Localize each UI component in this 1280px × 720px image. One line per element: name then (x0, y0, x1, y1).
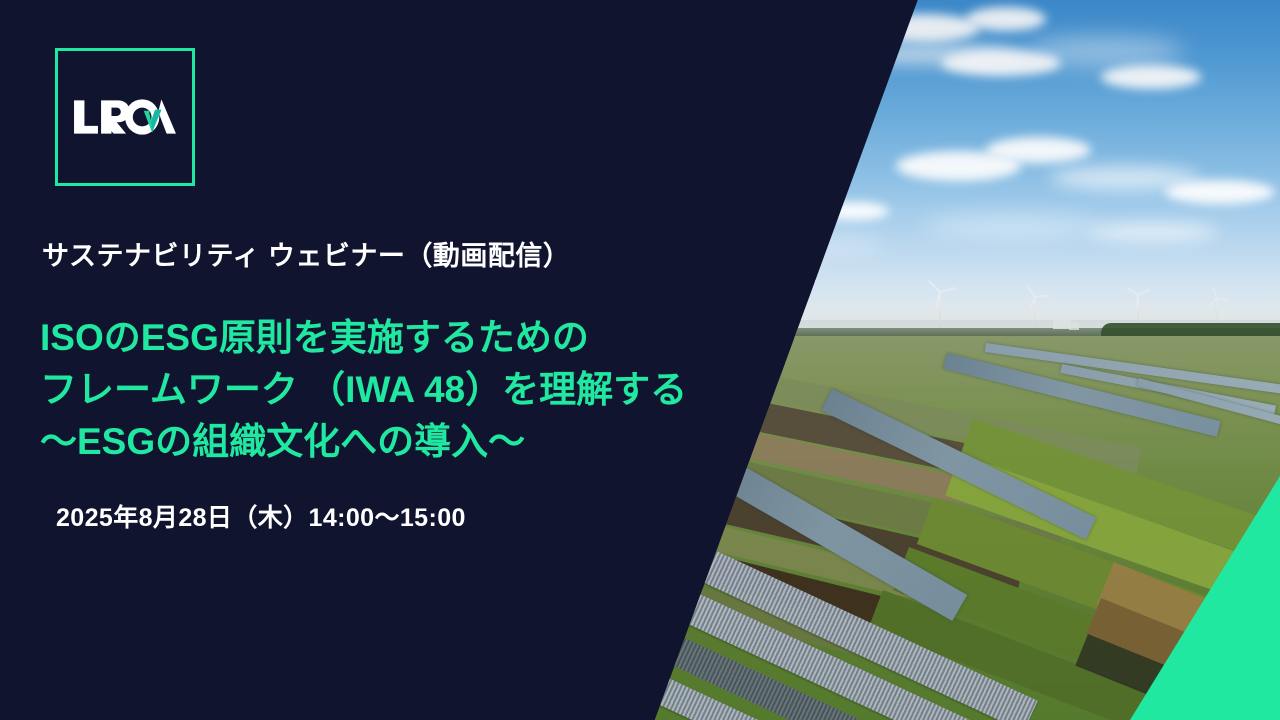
cloud (1165, 180, 1275, 204)
banner-content: サステナビリティ ウェビナー（動画配信） ISOのESG原則を実施するための フ… (0, 0, 780, 720)
title-line-1: ISOのESG原則を実施するための (40, 312, 687, 364)
lrqa-logo (55, 48, 195, 186)
webinar-banner: サステナビリティ ウェビナー（動画配信） ISOのESG原則を実施するための フ… (0, 0, 1280, 720)
title-line-2: フレームワーク （IWA 48）を理解する (40, 364, 687, 416)
lrqa-wordmark-icon (73, 97, 177, 137)
event-datetime: 2025年8月28日（木）14:00～15:00 (56, 498, 466, 534)
cloud (1024, 36, 1184, 66)
farm-building (1069, 323, 1079, 330)
cloud (819, 202, 889, 220)
cloud (986, 137, 1091, 163)
banner-subtitle: サステナビリティ ウェビナー（動画配信） (42, 234, 570, 273)
banner-title: ISOのESG原則を実施するための フレームワーク （IWA 48）を理解する … (40, 312, 687, 468)
wind-turbine-icon (931, 292, 949, 332)
wind-turbine-icon (1027, 297, 1043, 332)
cloud (922, 216, 1102, 236)
title-line-3: ～ESGの組織文化への導入～ (40, 416, 687, 468)
cloud (1101, 65, 1201, 89)
